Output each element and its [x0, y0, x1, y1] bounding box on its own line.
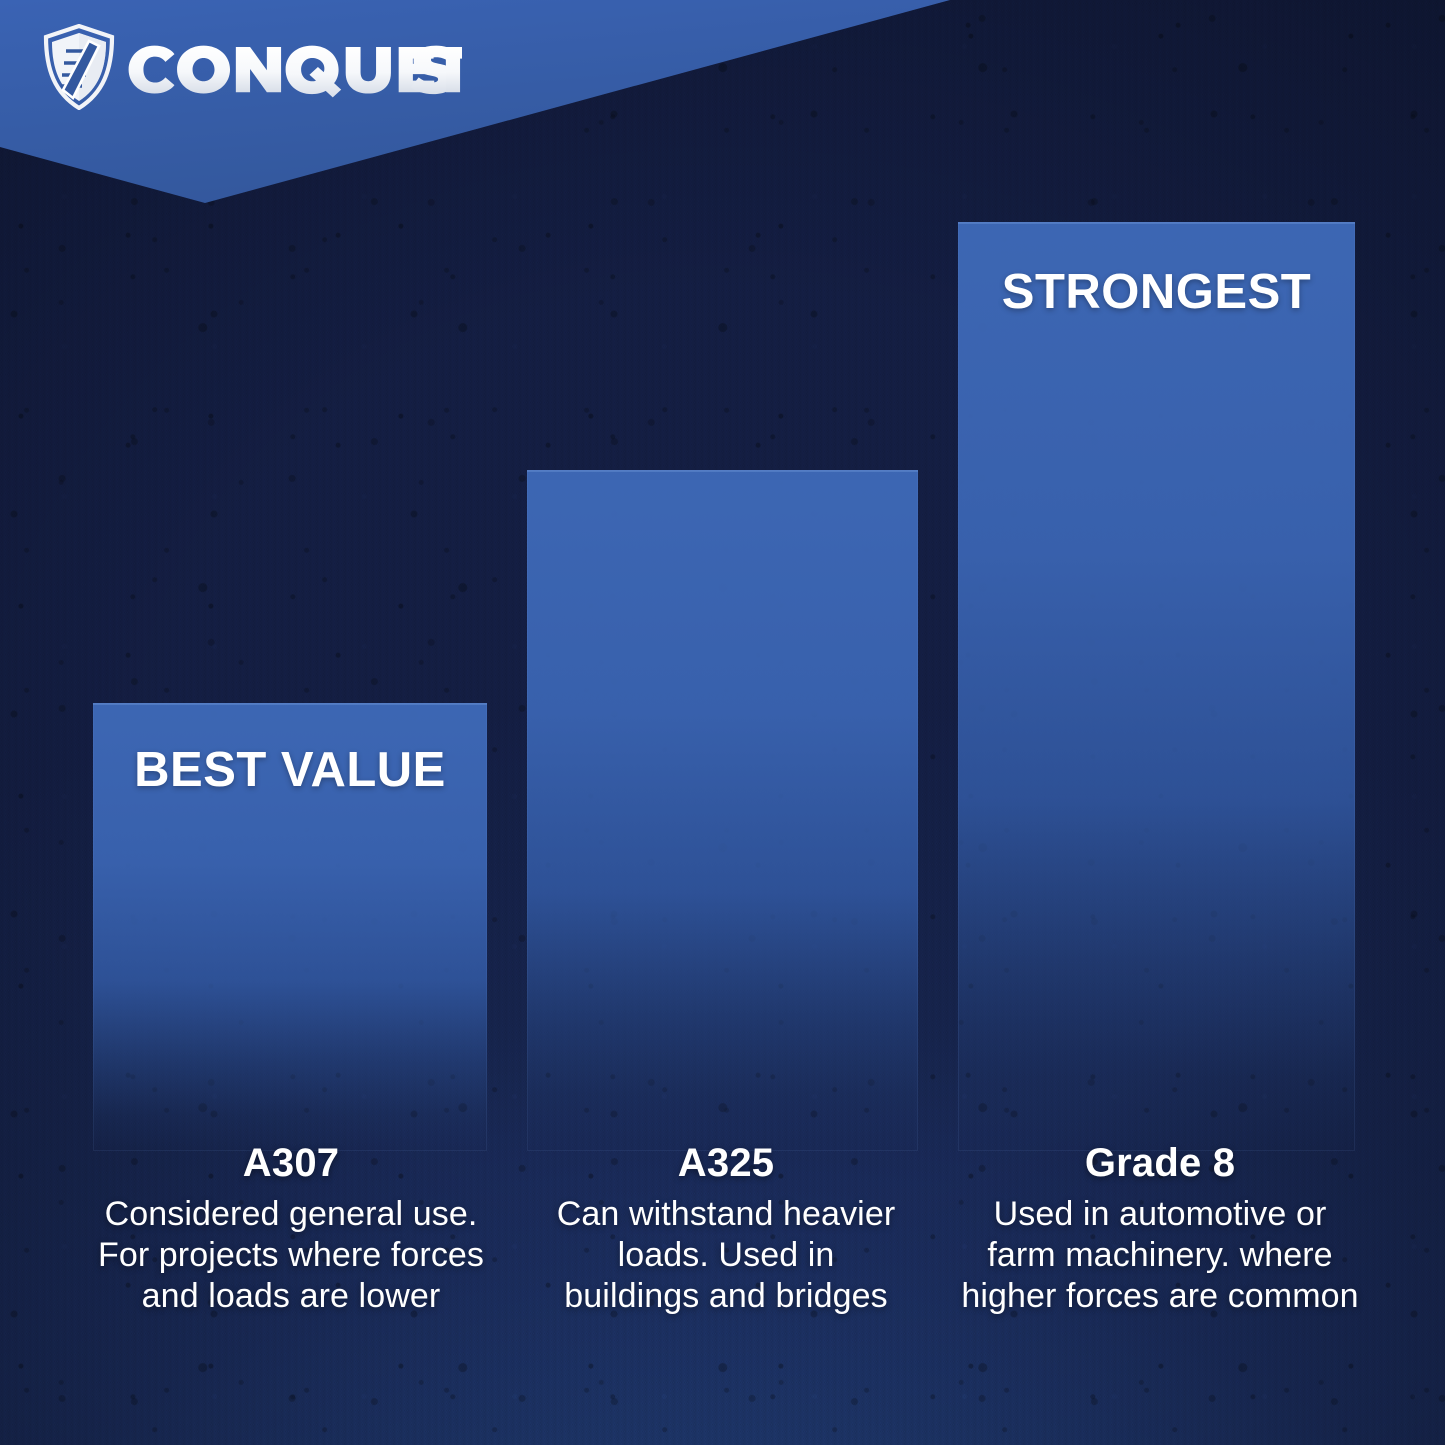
brand-logo[interactable] — [42, 24, 462, 110]
badge-strongest: STRONGEST — [958, 264, 1355, 320]
bar-top-highlight — [958, 222, 1355, 224]
caption-desc-grade-8: Used in automotive or farm machinery. wh… — [960, 1194, 1360, 1317]
bar-a325 — [527, 470, 918, 1151]
caption-desc-a307: Considered general use. For projects whe… — [86, 1194, 496, 1317]
shield-bolt-icon — [42, 24, 116, 110]
caption-title-grade-8: Grade 8 — [960, 1142, 1360, 1184]
caption-desc-a325: Can withstand heavier loads. Used in bui… — [546, 1194, 906, 1317]
badge-best-value: BEST VALUE — [93, 742, 487, 798]
bar-grade-8 — [958, 222, 1355, 1151]
caption-title-a307: A307 — [86, 1142, 496, 1184]
bar-top-highlight — [93, 703, 487, 705]
brand-wordmark — [126, 30, 462, 104]
caption-title-a325: A325 — [546, 1142, 906, 1184]
infographic-canvas: BEST VALUE STRONGEST — [0, 0, 1445, 1445]
caption-grade-8: Grade 8 Used in automotive or farm machi… — [960, 1142, 1360, 1317]
caption-a325: A325 Can withstand heavier loads. Used i… — [546, 1142, 906, 1317]
caption-a307: A307 Considered general use. For project… — [86, 1142, 496, 1317]
bar-top-highlight — [527, 470, 918, 472]
